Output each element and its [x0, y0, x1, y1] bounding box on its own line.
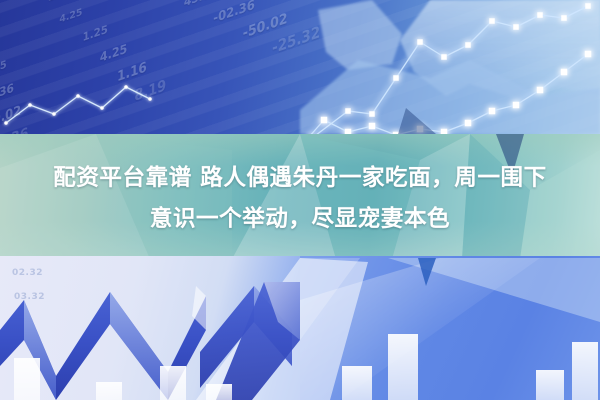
number-cell: 4.25 — [100, 41, 127, 65]
number-cell: -11.25 — [0, 59, 7, 83]
financial-banner-image: -02.364.25-11.2545.0221.36-02.362.36-11.… — [0, 0, 600, 400]
number-cell: 4.25 — [59, 7, 82, 26]
perspective-number-grid: -02.364.25-11.2545.0221.36-02.362.36-11.… — [0, 0, 600, 152]
number-cell: 1.25 — [83, 24, 108, 44]
number-cell: 29.36 — [426, 0, 470, 5]
number-cell: 8.19 — [134, 77, 166, 106]
number-cell: 1.16 — [117, 59, 147, 85]
number-cell: 45.02 — [184, 0, 218, 10]
headline-text: 配资平台靠谱 路人偶遇朱丹一家吃面，周一围下 意识一个举动，尽显宠妻本色 — [0, 158, 600, 240]
faint-number: 03.32 — [14, 292, 45, 302]
headline-line-2: 意识一个举动，尽显宠妻本色 — [0, 199, 600, 240]
headline-line-1: 配资平台靠谱 路人偶遇朱丹一家吃面，周一围下 — [0, 158, 600, 199]
number-cell: 2.36 — [48, 0, 69, 3]
faint-number: 02.32 — [12, 268, 43, 278]
lower-blue-block — [300, 256, 600, 400]
